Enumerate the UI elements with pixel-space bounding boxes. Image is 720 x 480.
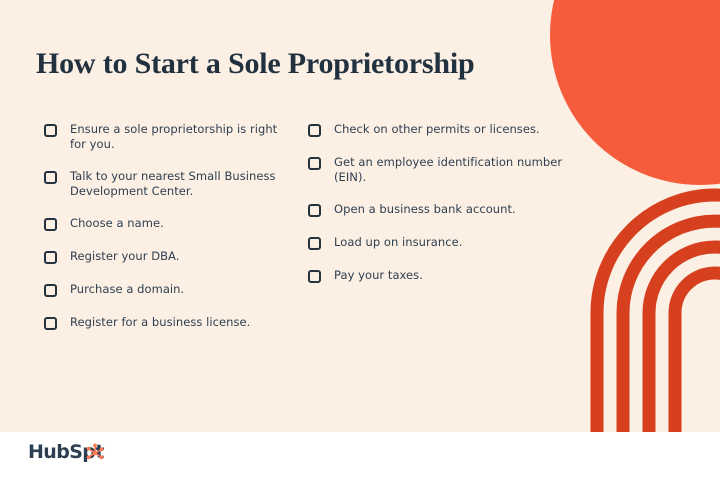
checklist-columns: Ensure a sole proprietorship is right fo… (0, 122, 600, 422)
checklist-item[interactable]: Register for a business license. (44, 315, 294, 330)
checklist-item[interactable]: Check on other permits or licenses. (308, 122, 576, 137)
checklist-item-label: Ensure a sole proprietorship is right fo… (70, 122, 294, 151)
checklist-item[interactable]: Open a business bank account. (308, 202, 576, 217)
checklist-item[interactable]: Talk to your nearest Small Business Deve… (44, 169, 294, 198)
checkbox-icon[interactable] (308, 270, 321, 283)
checkbox-icon[interactable] (44, 317, 57, 330)
checkbox-icon[interactable] (308, 124, 321, 137)
checklist-item[interactable]: Load up on insurance. (308, 235, 576, 250)
checkbox-icon[interactable] (44, 218, 57, 231)
checklist-item-label: Register for a business license. (70, 315, 250, 330)
checkbox-icon[interactable] (44, 251, 57, 264)
checklist-item-label: Open a business bank account. (334, 202, 516, 217)
checklist-item-label: Pay your taxes. (334, 268, 423, 283)
checklist-item[interactable]: Get an employee identification number (E… (308, 155, 576, 184)
checkbox-icon[interactable] (44, 171, 57, 184)
checklist-item-label: Purchase a domain. (70, 282, 184, 297)
checklist-item[interactable]: Choose a name. (44, 216, 294, 231)
checkbox-icon[interactable] (308, 157, 321, 170)
checkbox-icon[interactable] (44, 124, 57, 137)
checklist-item-label: Talk to your nearest Small Business Deve… (70, 169, 294, 198)
checklist-column-right: Check on other permits or licenses. Get … (308, 122, 576, 301)
checklist-item-label: Load up on insurance. (334, 235, 462, 250)
checklist-column-left: Ensure a sole proprietorship is right fo… (44, 122, 294, 348)
checklist-item-label: Get an employee identification number (E… (334, 155, 576, 184)
checkbox-icon[interactable] (308, 204, 321, 217)
checklist-item[interactable]: Purchase a domain. (44, 282, 294, 297)
checklist-item[interactable]: Ensure a sole proprietorship is right fo… (44, 122, 294, 151)
infographic-canvas: How to Start a Sole Proprietorship Ensur… (0, 0, 720, 480)
checklist-item-label: Check on other permits or licenses. (334, 122, 540, 137)
page-title: How to Start a Sole Proprietorship (36, 46, 556, 82)
checkbox-icon[interactable] (44, 284, 57, 297)
checklist-item-label: Choose a name. (70, 216, 164, 231)
checklist-item-label: Register your DBA. (70, 249, 179, 264)
hubspot-logo: HubSp t (28, 442, 104, 462)
checklist-item[interactable]: Register your DBA. (44, 249, 294, 264)
checklist-item[interactable]: Pay your taxes. (308, 268, 576, 283)
checkbox-icon[interactable] (308, 237, 321, 250)
